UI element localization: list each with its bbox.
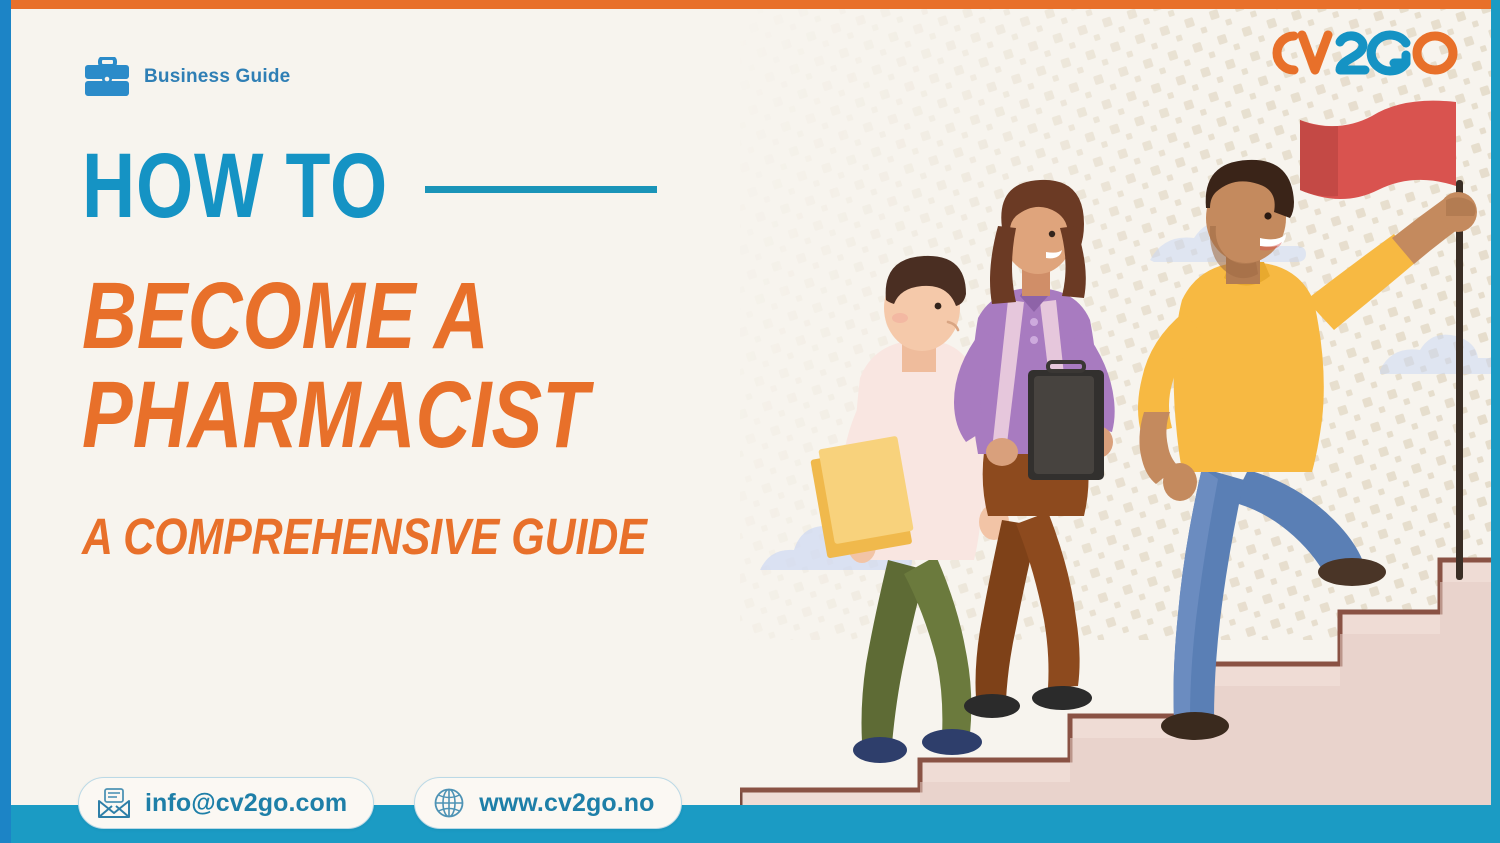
figure-woman-with-briefcase xyxy=(954,180,1115,718)
headline-subtitle: A COMPREHENSIVE GUIDE xyxy=(82,510,720,564)
top-accent-bar xyxy=(0,0,1500,9)
right-accent-bar xyxy=(1491,0,1500,843)
left-accent-bar xyxy=(0,0,11,843)
footer-contact-pills: info@cv2go.com www.cv2go.no xyxy=(78,777,682,829)
headline-divider-rule xyxy=(425,186,657,193)
banner-canvas: Business Guide HOW TO BECOME A xyxy=(0,0,1500,843)
briefcase xyxy=(1028,362,1104,480)
cv2go-logo[interactable] xyxy=(1254,22,1464,89)
contact-pill-website[interactable]: www.cv2go.no xyxy=(414,777,681,829)
illustration-people-climbing-stairs xyxy=(740,0,1500,843)
envelope-icon xyxy=(97,787,131,819)
briefcase-icon xyxy=(84,57,130,97)
stairs-path xyxy=(740,560,1500,843)
contact-pill-email[interactable]: info@cv2go.com xyxy=(78,777,374,829)
globe-icon xyxy=(433,787,465,819)
cv2go-logo-mark xyxy=(1254,22,1464,84)
headline-block: HOW TO BECOME A PHARMACIST A COMPREHENSI… xyxy=(82,140,842,563)
business-guide-badge: Business Guide xyxy=(84,57,290,97)
flag-pole xyxy=(1456,180,1463,580)
headline-title-line-1: BECOME A xyxy=(82,268,690,365)
headline-title-line-2: PHARMACIST xyxy=(82,367,690,464)
contact-website-label: www.cv2go.no xyxy=(479,789,654,818)
badge-label: Business Guide xyxy=(144,66,290,88)
headline-eyebrow: HOW TO xyxy=(82,140,388,232)
contact-email-label: info@cv2go.com xyxy=(145,789,347,818)
